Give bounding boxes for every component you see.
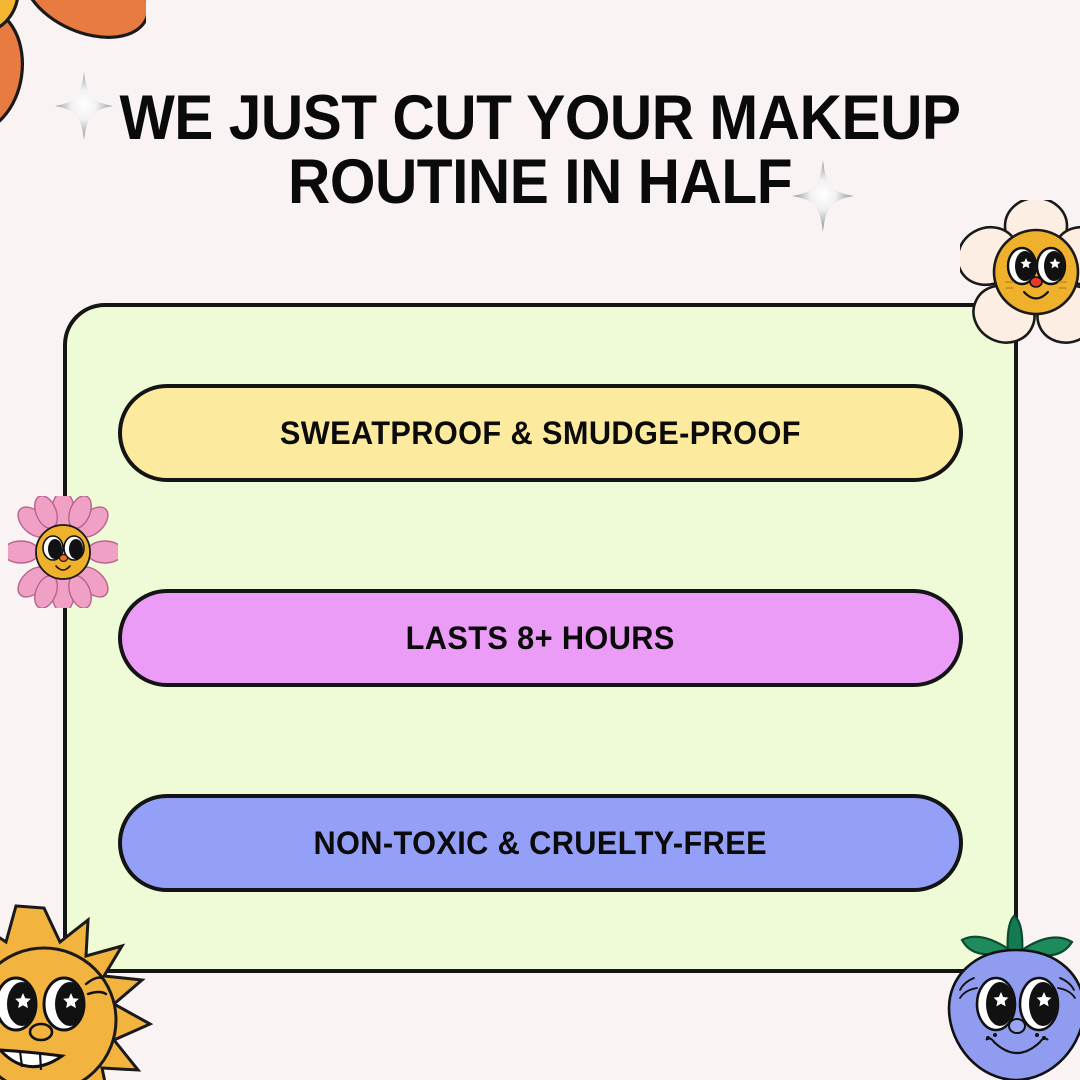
feature-pill-label: SWEATPROOF & SMUDGE-PROOF [280, 415, 801, 452]
promo-canvas: WE JUST CUT YOUR MAKEUP ROUTINE IN HALF … [0, 0, 1080, 1080]
feature-pill-label: LASTS 8+ HOURS [406, 620, 675, 657]
page-title: WE JUST CUT YOUR MAKEUP ROUTINE IN HALF [38, 86, 1042, 215]
feature-pill[interactable]: LASTS 8+ HOURS [118, 589, 963, 687]
feature-pill-label: NON-TOXIC & CRUELTY-FREE [314, 825, 768, 862]
feature-pill[interactable]: SWEATPROOF & SMUDGE-PROOF [118, 384, 963, 482]
features-card: SWEATPROOF & SMUDGE-PROOF LASTS 8+ HOURS… [63, 303, 1018, 973]
feature-pill[interactable]: NON-TOXIC & CRUELTY-FREE [118, 794, 963, 892]
